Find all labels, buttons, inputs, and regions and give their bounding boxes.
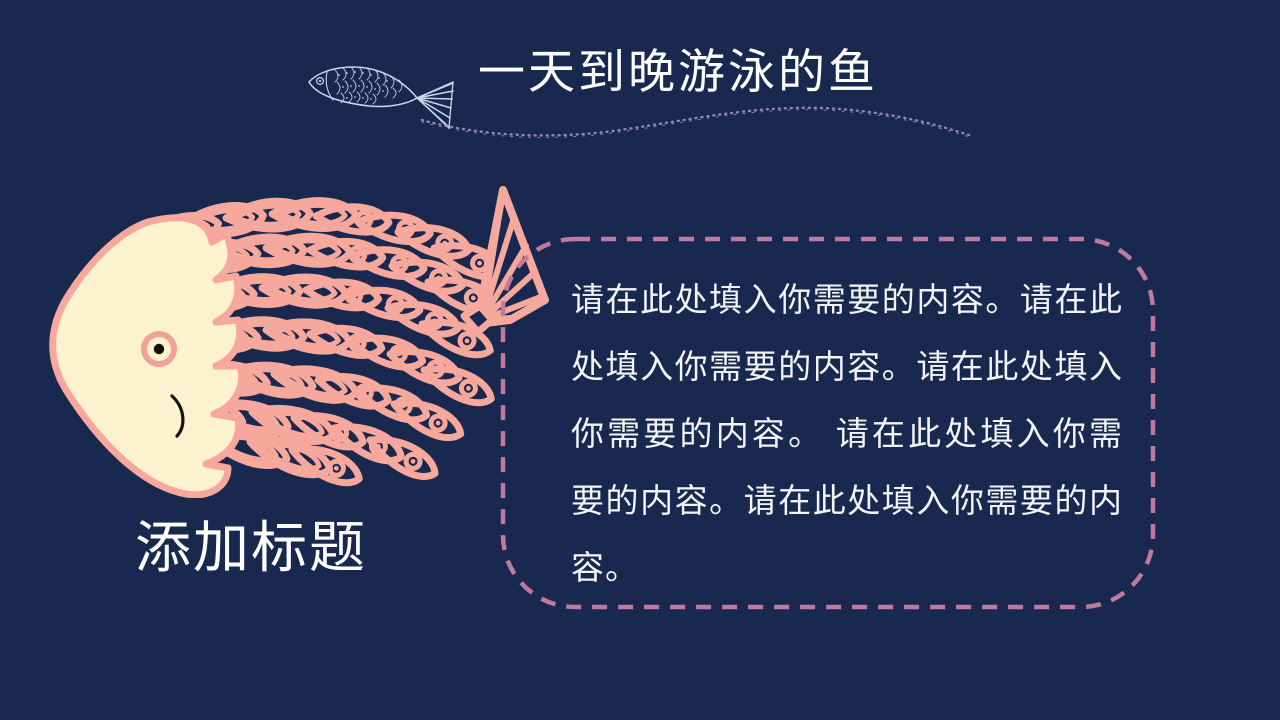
page-title: 一天到晚游泳的鱼 — [478, 40, 998, 106]
section-heading: 添加标题 — [135, 513, 367, 585]
large-decorative-fish-icon — [40, 168, 570, 498]
content-callout-box: 请在此处填入你需要的内容。请在此处填入你需要的内容。请在此处填入你需要的内容。 … — [500, 236, 1156, 610]
presentation-slide: 一天到晚游泳的鱼 — [0, 0, 1280, 720]
body-paragraph: 请在此处填入你需要的内容。请在此处填入你需要的内容。请在此处填入你需要的内容。 … — [571, 268, 1123, 603]
